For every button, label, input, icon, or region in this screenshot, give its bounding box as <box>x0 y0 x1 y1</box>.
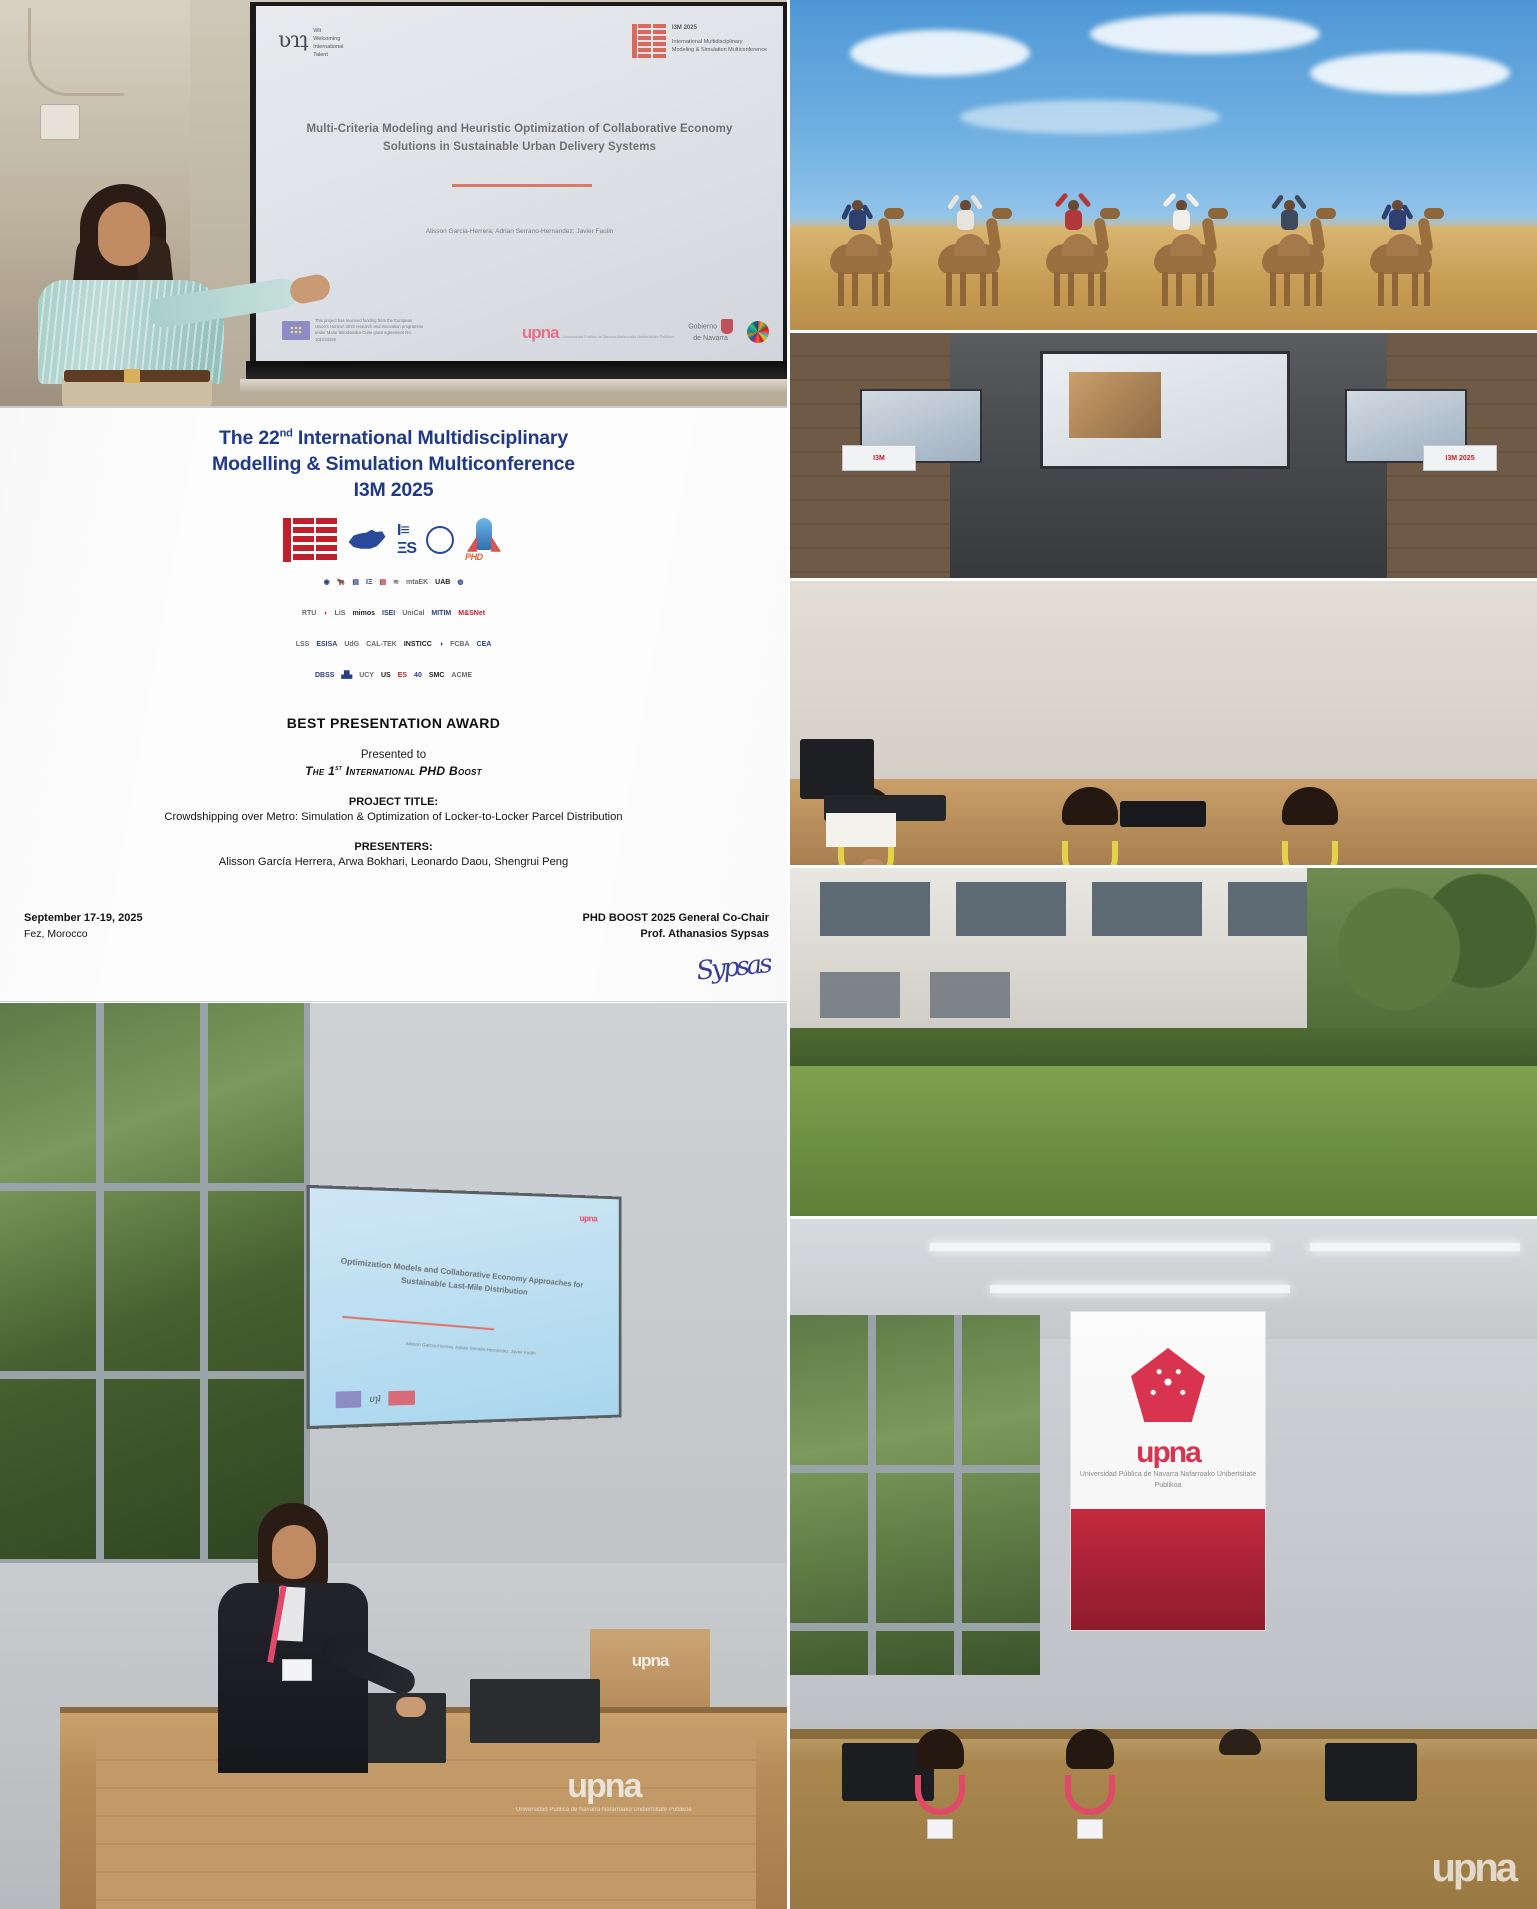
wit-logo: ʋɿʇ WitWelcomingInternationalTalent <box>278 28 343 60</box>
logo-mitim-genoa: MITIM <box>431 601 451 627</box>
recipient-pre: The 1 <box>305 764 335 778</box>
presented-to-label: Presented to <box>0 749 787 761</box>
wit-mark-icon: ʋɿʇ <box>370 1393 381 1404</box>
award-heading: BEST PRESENTATION AWARD <box>0 715 787 731</box>
screen-bottom-bar <box>246 361 787 379</box>
logo-unicam: ◑ <box>439 632 443 658</box>
logo-mt-milan: ▟▙ <box>341 663 352 689</box>
logo-row-1: I≡ΞS PHD <box>216 518 572 562</box>
i3m-year: I3M 2025 <box>672 24 767 34</box>
banner-left: I3M <box>842 445 916 471</box>
slide-upna-logo: upna <box>580 1213 598 1223</box>
podium-slide-rule <box>342 1316 494 1331</box>
logo-dbss: DBSS <box>315 663 334 689</box>
rider-5 <box>1278 200 1300 238</box>
photo-three-colleagues-desk <box>790 581 1537 865</box>
eu-flag-icon <box>336 1391 361 1408</box>
building-window-1 <box>820 882 930 936</box>
phd-boost-rocket-icon: PHD <box>464 518 504 562</box>
building-window-3 <box>1092 882 1202 936</box>
certificate-title: The 22nd International Multidisciplinary… <box>0 426 787 504</box>
rollup-wordmark: upna <box>1071 1436 1265 1470</box>
logo-40-aniversario: 40 <box>414 663 422 689</box>
logo-isei: ISEI <box>382 601 395 627</box>
i3m-line1: International Multidisciplinary <box>672 39 743 45</box>
rollup-sublabel: Universidad Pública de Navarra Nafarroak… <box>1071 1470 1265 1491</box>
slide-footer: This project has received funding from t… <box>282 318 769 343</box>
award-recipient: The 1st International PHD Boost <box>0 763 787 778</box>
cloud-3 <box>1310 52 1510 94</box>
podium-brand: upna <box>590 1651 710 1671</box>
upna-pentagon-icon <box>1131 1348 1205 1422</box>
room-window <box>790 1315 1040 1675</box>
wit-mark-icon: ʋɿʇ <box>278 28 307 53</box>
photo-collage: ʋɿʇ WitWelcomingInternationalTalent I3M … <box>0 0 1537 1909</box>
speaker-person <box>28 184 228 406</box>
logo-lis: LiS <box>335 601 346 627</box>
photo-podium-presentation: upna Optimization Models and Collaborati… <box>0 1003 787 1909</box>
logo-ihes: IΞ <box>366 570 372 596</box>
slide-title: Multi-Criteria Modeling and Heuristic Op… <box>292 121 747 157</box>
podium-slide-logos: ʋɿʇ <box>336 1389 416 1408</box>
certificate-title-line3: I3M 2025 <box>354 479 434 501</box>
award-certificate-scan: The 22nd International Multidisciplinary… <box>0 406 787 1002</box>
certificate-title-line2: Modelling & Simulation Multiconference <box>212 453 575 475</box>
photo-three-people-rollup: upna Universidad Pública de Navarra Nafa… <box>790 1219 1537 1909</box>
presenters-label: PRESENTERS: <box>0 841 787 853</box>
upna-sublabel: Universidad Publica de Navarra Nafarroak… <box>563 335 674 339</box>
i3m-logo-caption: I3M 2025 International Multidisciplinary… <box>672 24 767 55</box>
logo-row-4: LSS ESISA UdG CAL-TEK INSTICC ◑ FCBA CEA <box>216 632 572 658</box>
ceiling-tube-1 <box>930 1243 1270 1251</box>
ceiling-tube-3 <box>990 1285 1290 1293</box>
logo-globe: ◍ <box>457 570 463 596</box>
podium-slide-title: Optimization Models and Collaborative Ec… <box>333 1255 589 1305</box>
bench-brand-wordmark: upna <box>1431 1846 1515 1891</box>
slide-authors: Alisson Garcia-Herrera; Adrian Serrano-H… <box>256 228 783 235</box>
logo-lss: LSS <box>296 632 310 658</box>
eu-flag-icon <box>282 321 310 340</box>
trees <box>1307 868 1537 1048</box>
bull-logo-icon <box>347 525 387 555</box>
slide-accent-rule <box>452 184 592 187</box>
seal-logo-icon <box>426 526 454 554</box>
certificate-chair-block: PHD BOOST 2025 General Co-Chair Prof. At… <box>583 911 769 979</box>
cloud-1 <box>850 30 1030 76</box>
bench-monitor-right <box>1325 1743 1417 1801</box>
cloud-2 <box>1090 14 1320 54</box>
logo-universidad-sevilla: US <box>381 663 391 689</box>
i3m-logo: I3M 2025 International Multidisciplinary… <box>632 24 767 58</box>
project-title-value: Crowdshipping over Metro: Simulation & O… <box>0 811 787 823</box>
certificate-title-line1-a: The 22 <box>219 427 280 449</box>
presenter-person <box>200 1503 380 1793</box>
photo-outdoor-group <box>790 868 1537 1216</box>
ceiling-tube-2 <box>1310 1243 1520 1251</box>
i3m-line2: Modeling & Simulation Multiconference <box>672 47 767 53</box>
photo-camel-ride <box>790 0 1537 330</box>
upna-logo: upna Universidad Publica de Navarra Nafa… <box>522 323 674 343</box>
rider-2 <box>954 200 976 238</box>
slide-upna-wordmark: upna <box>580 1213 598 1223</box>
sdg-wheel-icon <box>747 321 769 343</box>
logo-row-3: RTU ◗ LiS mimos ISEI UniCal MITIM M&SNet <box>216 601 572 627</box>
desk-brand-wordmark: upna <box>516 1767 692 1806</box>
rider-3 <box>1062 200 1084 238</box>
imm-logo-icon <box>283 518 337 562</box>
logo-insticc: INSTICC <box>404 632 432 658</box>
wall-socket <box>40 104 80 140</box>
hedge-row <box>790 1028 1537 1070</box>
logo-mta-ek: mtaEK <box>406 570 428 596</box>
rider-1 <box>846 200 868 238</box>
logo-cea: CEA <box>477 632 492 658</box>
building-window-2 <box>956 882 1066 936</box>
project-title-label: PROJECT TITLE: <box>0 796 787 808</box>
ceiling-cable <box>28 8 124 96</box>
logo-msnet: M&SNet <box>458 601 485 627</box>
main-projection-screen <box>1040 351 1290 469</box>
certificate-date: September 17-19, 2025 <box>24 911 143 927</box>
logo-university-of-cyprus: UCY <box>359 663 374 689</box>
logo-wave: ≋ <box>393 570 399 596</box>
cloud-4 <box>960 100 1220 134</box>
papers-on-desk <box>826 813 896 847</box>
logo-esisa: ESISA <box>316 632 337 658</box>
logo-drop: ◗ <box>323 601 327 627</box>
chair-name: Prof. Athanasios Sypsas <box>583 927 769 943</box>
bench-brand-logo: upna <box>1431 1846 1515 1891</box>
desk-brand-sublabel: Universidad Pública de Navarra Nafarroak… <box>516 1806 692 1815</box>
rider-4 <box>1170 200 1192 238</box>
ihes-logo-icon: I≡ΞS <box>397 522 416 558</box>
logo-university: ▤ <box>352 570 359 596</box>
certificate-title-line1-b: International Multidisciplinary <box>293 427 568 449</box>
signature: Sypsas <box>582 949 771 998</box>
eu-funding-text: This project has received funding from t… <box>315 318 425 343</box>
i3m-mark-icon <box>632 24 666 58</box>
eu-funding-block: This project has received funding from t… <box>282 318 425 343</box>
gobierno-navarra-logo: Gobierno de Navarra <box>688 319 733 343</box>
logo-dime: ◉ <box>324 570 330 596</box>
podium-slide-authors: Alisson García-Herrera, Adrián Serrano-H… <box>310 1334 618 1362</box>
banner-right: I3M 2025 <box>1423 445 1497 471</box>
desk-brand-logo: upna Universidad Pública de Navarra Nafa… <box>516 1767 692 1815</box>
chair-role: PHD BOOST 2025 General Co-Chair <box>583 911 769 927</box>
logo-university-girona: UdG <box>344 632 359 658</box>
gobierno-line1: Gobierno <box>688 323 717 330</box>
logo-uab: UAB <box>435 570 450 596</box>
screen-photo-thumbnail <box>1069 372 1161 438</box>
laptop-2 <box>470 1679 600 1743</box>
gobierno-line2: de Navarra <box>693 335 728 342</box>
presenters-value: Alisson García Herrera, Arwa Bokhari, Le… <box>0 856 787 868</box>
rider-6 <box>1386 200 1408 238</box>
logo-caltek-simulation: CAL-TEK <box>366 632 397 658</box>
logo-fcba: FCBA <box>450 632 469 658</box>
projection-screen: upna Optimization Models and Collaborati… <box>307 1185 622 1429</box>
hall-window <box>0 1003 310 1563</box>
photo-conference-group-hall: I3M I3M 2025 <box>790 333 1537 578</box>
logo-row-5: DBSS ▟▙ UCY US ES 40 SMC ACME <box>216 663 572 689</box>
certificate-title-ordinal: nd <box>280 428 293 440</box>
projected-title-slide: ʋɿʇ WitWelcomingInternationalTalent I3M … <box>256 6 783 361</box>
logo-unical: UniCal <box>402 601 424 627</box>
logo-bull-blue: 🐂 <box>337 570 346 596</box>
screen-ledge <box>240 379 787 393</box>
building-window-5 <box>820 972 900 1018</box>
certificate-footer: September 17-19, 2025 Fez, Morocco PHD B… <box>24 911 769 979</box>
photo-speaker-at-screen: ʋɿʇ WitWelcomingInternationalTalent I3M … <box>0 0 787 406</box>
logo-row-2: ◉ 🐂 ▤ IΞ ▤ ≋ mtaEK UAB ◍ <box>216 570 572 596</box>
desktop-monitor <box>800 739 874 799</box>
certificate-city: Fez, Morocco <box>24 927 143 942</box>
recipient-post: International PHD Boost <box>342 764 482 778</box>
wit-logo-text: WitWelcomingInternationalTalent <box>313 28 343 60</box>
sponsor-logo-grid: I≡ΞS PHD ◉ 🐂 ▤ IΞ ▤ ≋ mtaEK UAB ◍ RTU ◗ … <box>216 518 572 689</box>
gobierno-navarra-icon <box>389 1391 416 1406</box>
certificate-date-block: September 17-19, 2025 Fez, Morocco <box>24 911 143 942</box>
building-window-6 <box>930 972 1010 1018</box>
upna-rollup-banner: upna Universidad Pública de Navarra Nafa… <box>1070 1311 1266 1631</box>
logo-gobierno-espana: ES <box>398 663 407 689</box>
navarra-shield-icon <box>721 319 733 334</box>
lawn <box>790 1066 1537 1216</box>
tablet-on-desk <box>1120 801 1206 827</box>
logo-acme: ACME <box>451 663 472 689</box>
logo-mimos: mimos <box>352 601 375 627</box>
logo-riga-technical-university: RTU <box>302 601 316 627</box>
upna-wordmark: upna <box>522 323 559 342</box>
logo-red-bars: ▤ <box>379 570 386 596</box>
logo-smc: SMC <box>429 663 445 689</box>
